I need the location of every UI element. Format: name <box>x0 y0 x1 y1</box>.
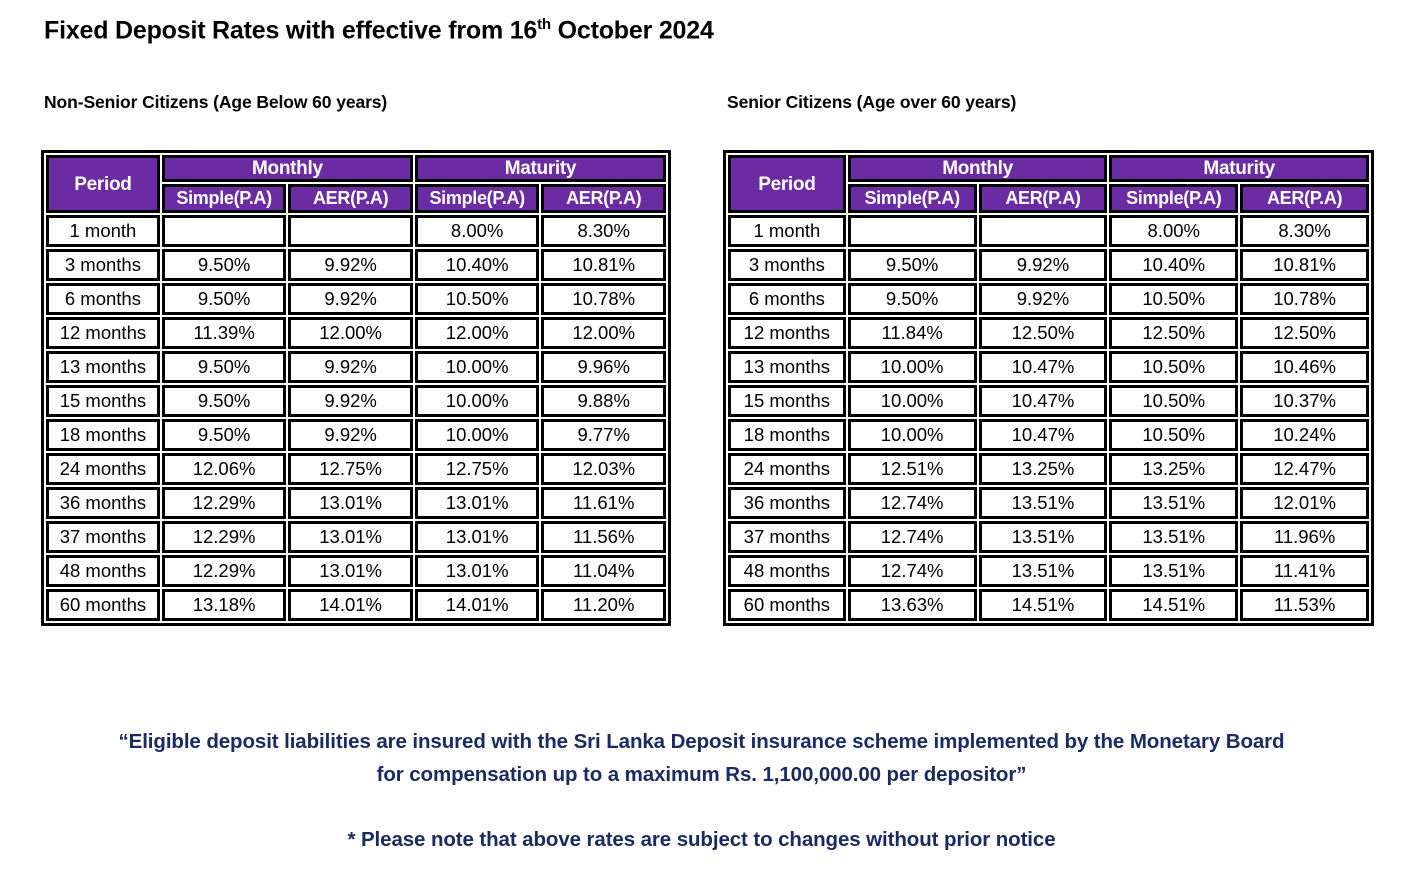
table-header: Period Monthly Maturity Simple(P.A) AER(… <box>46 155 666 213</box>
rate-cell-monthly-aer: 12.50% <box>979 317 1108 349</box>
rate-row-period: 12 months <box>728 317 846 349</box>
rate-cell-monthly-simple: 12.51% <box>848 453 977 485</box>
rate-row-period: 12 months <box>46 317 160 349</box>
rate-cell-maturity-aer: 10.46% <box>1240 351 1369 383</box>
table-row: 60 months13.18%14.01%14.01%11.20% <box>46 589 666 621</box>
rate-cell-monthly-aer: 13.51% <box>979 555 1108 587</box>
deposit-insurance-note-line-2: for compensation up to a maximum Rs. 1,1… <box>0 763 1403 787</box>
rate-cell-maturity-simple: 12.75% <box>415 453 540 485</box>
non-senior-rates-table: Period Monthly Maturity Simple(P.A) AER(… <box>44 153 668 623</box>
rate-row-period: 1 month <box>46 215 160 247</box>
page-title-ordinal: th <box>537 16 551 33</box>
rate-cell-monthly-aer: 12.00% <box>288 317 413 349</box>
rate-row-period: 3 months <box>46 249 160 281</box>
rate-cell-monthly-aer <box>979 215 1108 247</box>
rate-cell-monthly-aer: 9.92% <box>979 249 1108 281</box>
rate-cell-maturity-aer: 11.96% <box>1240 521 1369 553</box>
table-row: 15 months10.00%10.47%10.50%10.37% <box>728 385 1369 417</box>
rate-cell-maturity-simple: 10.00% <box>415 419 540 451</box>
rate-cell-monthly-simple: 10.00% <box>848 419 977 451</box>
rate-cell-maturity-simple: 8.00% <box>415 215 540 247</box>
rate-cell-maturity-simple: 12.00% <box>415 317 540 349</box>
table-header-row-groups: Period Monthly Maturity <box>46 155 666 182</box>
table-row: 60 months13.63%14.51%14.51%11.53% <box>728 589 1369 621</box>
rate-row-period: 48 months <box>728 555 846 587</box>
rate-row-period: 24 months <box>728 453 846 485</box>
rate-cell-monthly-simple: 9.50% <box>848 283 977 315</box>
rate-cell-maturity-aer: 10.81% <box>541 249 666 281</box>
rate-cell-maturity-aer: 10.78% <box>541 283 666 315</box>
rate-row-period: 15 months <box>46 385 160 417</box>
rate-row-period: 6 months <box>728 283 846 315</box>
rate-cell-maturity-aer: 10.24% <box>1240 419 1369 451</box>
rate-cell-monthly-simple: 12.29% <box>162 555 287 587</box>
table-row: 3 months9.50%9.92%10.40%10.81% <box>46 249 666 281</box>
table-row: 37 months12.74%13.51%13.51%11.96% <box>728 521 1369 553</box>
rate-cell-monthly-aer: 10.47% <box>979 351 1108 383</box>
rate-cell-maturity-aer: 11.20% <box>541 589 666 621</box>
rate-cell-monthly-aer: 9.92% <box>288 385 413 417</box>
rate-cell-monthly-aer: 13.51% <box>979 521 1108 553</box>
table-row: 6 months9.50%9.92%10.50%10.78% <box>46 283 666 315</box>
rate-cell-monthly-simple: 12.29% <box>162 487 287 519</box>
rate-cell-monthly-aer: 14.01% <box>288 589 413 621</box>
rate-row-period: 15 months <box>728 385 846 417</box>
column-header-maturity-aer: AER(P.A) <box>541 184 666 213</box>
rate-cell-maturity-aer: 10.37% <box>1240 385 1369 417</box>
rate-cell-maturity-aer: 11.53% <box>1240 589 1369 621</box>
rate-cell-monthly-simple: 9.50% <box>162 351 287 383</box>
rate-cell-monthly-simple: 11.84% <box>848 317 977 349</box>
rate-row-period: 37 months <box>46 521 160 553</box>
column-header-maturity-simple: Simple(P.A) <box>1109 184 1238 213</box>
rate-cell-maturity-simple: 12.50% <box>1109 317 1238 349</box>
rate-cell-maturity-aer: 11.41% <box>1240 555 1369 587</box>
rate-cell-monthly-simple: 11.39% <box>162 317 287 349</box>
rate-cell-maturity-aer: 9.88% <box>541 385 666 417</box>
table-row: 1 month8.00%8.30% <box>46 215 666 247</box>
rate-cell-monthly-aer: 9.92% <box>288 283 413 315</box>
rate-cell-monthly-simple: 9.50% <box>848 249 977 281</box>
rate-cell-monthly-simple <box>162 215 287 247</box>
rate-cell-maturity-simple: 13.51% <box>1109 487 1238 519</box>
rate-cell-maturity-aer: 11.61% <box>541 487 666 519</box>
rate-cell-maturity-simple: 10.50% <box>1109 283 1238 315</box>
rate-cell-monthly-aer: 10.47% <box>979 385 1108 417</box>
senior-section-heading: Senior Citizens (Age over 60 years) <box>727 92 1016 113</box>
rate-cell-maturity-aer: 11.56% <box>541 521 666 553</box>
rate-cell-maturity-simple: 10.40% <box>1109 249 1238 281</box>
rate-cell-monthly-aer: 13.01% <box>288 521 413 553</box>
table-row: 48 months12.74%13.51%13.51%11.41% <box>728 555 1369 587</box>
column-group-header-maturity: Maturity <box>415 155 666 182</box>
rate-cell-maturity-simple: 10.50% <box>1109 351 1238 383</box>
non-senior-section-heading: Non-Senior Citizens (Age Below 60 years) <box>44 92 387 113</box>
rate-cell-maturity-simple: 13.51% <box>1109 521 1238 553</box>
rate-cell-monthly-simple: 12.74% <box>848 487 977 519</box>
senior-table-body: 1 month8.00%8.30%3 months9.50%9.92%10.40… <box>728 215 1369 621</box>
column-group-header-monthly: Monthly <box>162 155 413 182</box>
table-row: 24 months12.06%12.75%12.75%12.03% <box>46 453 666 485</box>
rate-cell-maturity-aer: 8.30% <box>541 215 666 247</box>
page-title: Fixed Deposit Rates with effective from … <box>44 16 714 45</box>
table-row: 1 month8.00%8.30% <box>728 215 1369 247</box>
rate-cell-maturity-aer: 12.47% <box>1240 453 1369 485</box>
column-header-monthly-aer: AER(P.A) <box>288 184 413 213</box>
rate-row-period: 36 months <box>728 487 846 519</box>
column-header-period: Period <box>728 155 846 213</box>
table-row: 36 months12.74%13.51%13.51%12.01% <box>728 487 1369 519</box>
rate-row-period: 13 months <box>46 351 160 383</box>
rate-cell-maturity-aer: 9.77% <box>541 419 666 451</box>
non-senior-rates-table-container: Period Monthly Maturity Simple(P.A) AER(… <box>41 150 671 626</box>
rate-cell-monthly-simple: 13.18% <box>162 589 287 621</box>
table-row: 48 months12.29%13.01%13.01%11.04% <box>46 555 666 587</box>
table-row: 18 months9.50%9.92%10.00%9.77% <box>46 419 666 451</box>
table-header: Period Monthly Maturity Simple(P.A) AER(… <box>728 155 1369 213</box>
rate-cell-maturity-aer: 12.03% <box>541 453 666 485</box>
rate-row-period: 24 months <box>46 453 160 485</box>
rate-cell-maturity-simple: 13.51% <box>1109 555 1238 587</box>
rate-cell-maturity-simple: 10.00% <box>415 385 540 417</box>
column-header-monthly-aer: AER(P.A) <box>979 184 1108 213</box>
rate-cell-maturity-simple: 10.50% <box>1109 419 1238 451</box>
rate-cell-maturity-aer: 11.04% <box>541 555 666 587</box>
rate-row-period: 37 months <box>728 521 846 553</box>
table-header-row-groups: Period Monthly Maturity <box>728 155 1369 182</box>
rate-cell-monthly-aer: 10.47% <box>979 419 1108 451</box>
table-row: 36 months12.29%13.01%13.01%11.61% <box>46 487 666 519</box>
senior-rates-table: Period Monthly Maturity Simple(P.A) AER(… <box>726 153 1371 623</box>
rate-cell-monthly-simple <box>848 215 977 247</box>
rate-row-period: 36 months <box>46 487 160 519</box>
rate-cell-maturity-simple: 14.51% <box>1109 589 1238 621</box>
page-title-prefix: Fixed Deposit Rates with effective from … <box>44 16 537 44</box>
rate-cell-maturity-aer: 12.01% <box>1240 487 1369 519</box>
rate-cell-monthly-simple: 12.29% <box>162 521 287 553</box>
rate-cell-monthly-aer: 12.75% <box>288 453 413 485</box>
rate-row-period: 1 month <box>728 215 846 247</box>
rate-cell-monthly-aer: 9.92% <box>288 249 413 281</box>
non-senior-table-body: 1 month8.00%8.30%3 months9.50%9.92%10.40… <box>46 215 666 621</box>
rate-cell-maturity-aer: 9.96% <box>541 351 666 383</box>
column-header-monthly-simple: Simple(P.A) <box>848 184 977 213</box>
table-row: 37 months12.29%13.01%13.01%11.56% <box>46 521 666 553</box>
rate-cell-maturity-aer: 12.50% <box>1240 317 1369 349</box>
rate-cell-monthly-simple: 10.00% <box>848 351 977 383</box>
rate-cell-maturity-simple: 10.50% <box>1109 385 1238 417</box>
rate-cell-monthly-simple: 12.74% <box>848 555 977 587</box>
rate-row-period: 18 months <box>46 419 160 451</box>
rate-cell-monthly-aer: 13.25% <box>979 453 1108 485</box>
rate-row-period: 6 months <box>46 283 160 315</box>
rate-cell-maturity-simple: 13.01% <box>415 555 540 587</box>
rate-cell-maturity-simple: 10.40% <box>415 249 540 281</box>
rate-cell-maturity-simple: 8.00% <box>1109 215 1238 247</box>
rate-row-period: 60 months <box>728 589 846 621</box>
rate-row-period: 18 months <box>728 419 846 451</box>
rate-row-period: 13 months <box>728 351 846 383</box>
column-group-header-maturity: Maturity <box>1109 155 1369 182</box>
rate-cell-monthly-simple: 12.74% <box>848 521 977 553</box>
table-row: 12 months11.39%12.00%12.00%12.00% <box>46 317 666 349</box>
rate-cell-monthly-simple: 13.63% <box>848 589 977 621</box>
rate-cell-monthly-aer: 9.92% <box>288 351 413 383</box>
rate-cell-maturity-aer: 10.81% <box>1240 249 1369 281</box>
rate-cell-monthly-simple: 9.50% <box>162 385 287 417</box>
rate-cell-monthly-simple: 10.00% <box>848 385 977 417</box>
rate-cell-maturity-aer: 8.30% <box>1240 215 1369 247</box>
rates-change-disclaimer: * Please note that above rates are subje… <box>0 828 1403 852</box>
deposit-insurance-note-line-1: “Eligible deposit liabilities are insure… <box>0 730 1403 754</box>
rate-cell-maturity-simple: 10.50% <box>415 283 540 315</box>
rate-cell-monthly-simple: 9.50% <box>162 283 287 315</box>
rate-cell-maturity-aer: 12.00% <box>541 317 666 349</box>
rate-cell-maturity-simple: 14.01% <box>415 589 540 621</box>
table-row: 15 months9.50%9.92%10.00%9.88% <box>46 385 666 417</box>
table-row: 18 months10.00%10.47%10.50%10.24% <box>728 419 1369 451</box>
rate-cell-monthly-aer: 13.51% <box>979 487 1108 519</box>
table-row: 13 months10.00%10.47%10.50%10.46% <box>728 351 1369 383</box>
table-row: 13 months9.50%9.92%10.00%9.96% <box>46 351 666 383</box>
rate-cell-maturity-simple: 13.01% <box>415 521 540 553</box>
rate-cell-monthly-aer <box>288 215 413 247</box>
rate-cell-maturity-simple: 13.01% <box>415 487 540 519</box>
rate-cell-monthly-aer: 9.92% <box>979 283 1108 315</box>
rate-cell-monthly-simple: 9.50% <box>162 249 287 281</box>
rate-cell-monthly-aer: 13.01% <box>288 555 413 587</box>
rate-cell-monthly-aer: 13.01% <box>288 487 413 519</box>
column-header-monthly-simple: Simple(P.A) <box>162 184 287 213</box>
rate-cell-monthly-simple: 12.06% <box>162 453 287 485</box>
table-row: 24 months12.51%13.25%13.25%12.47% <box>728 453 1369 485</box>
rate-cell-monthly-aer: 14.51% <box>979 589 1108 621</box>
column-header-period: Period <box>46 155 160 213</box>
table-row: 6 months9.50%9.92%10.50%10.78% <box>728 283 1369 315</box>
rate-row-period: 48 months <box>46 555 160 587</box>
rate-cell-maturity-aer: 10.78% <box>1240 283 1369 315</box>
page-title-suffix: October 2024 <box>551 16 714 44</box>
table-row: 12 months11.84%12.50%12.50%12.50% <box>728 317 1369 349</box>
rate-cell-maturity-simple: 10.00% <box>415 351 540 383</box>
rate-row-period: 60 months <box>46 589 160 621</box>
table-row: 3 months9.50%9.92%10.40%10.81% <box>728 249 1369 281</box>
rate-cell-monthly-simple: 9.50% <box>162 419 287 451</box>
column-group-header-monthly: Monthly <box>848 155 1108 182</box>
column-header-maturity-simple: Simple(P.A) <box>415 184 540 213</box>
column-header-maturity-aer: AER(P.A) <box>1240 184 1369 213</box>
senior-rates-table-container: Period Monthly Maturity Simple(P.A) AER(… <box>723 150 1374 626</box>
rate-row-period: 3 months <box>728 249 846 281</box>
fixed-deposit-rates-page: Fixed Deposit Rates with effective from … <box>0 0 1403 885</box>
rate-cell-monthly-aer: 9.92% <box>288 419 413 451</box>
rate-cell-maturity-simple: 13.25% <box>1109 453 1238 485</box>
